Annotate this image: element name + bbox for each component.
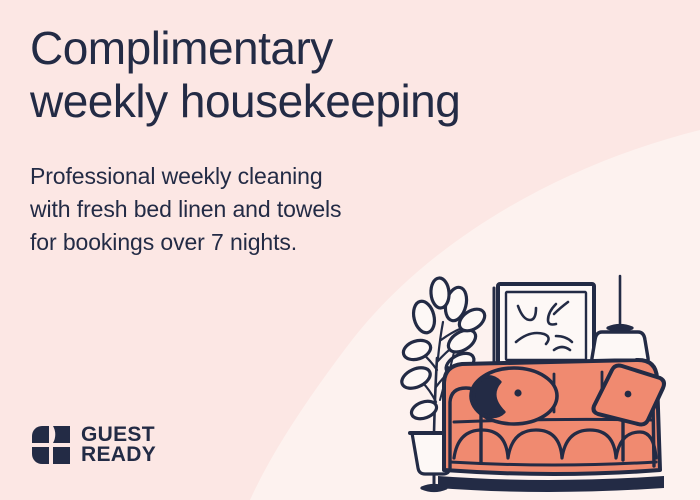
- round-cushion-icon: [471, 368, 557, 424]
- framed-artwork-icon: [494, 284, 594, 372]
- logo-word-line1: GUEST: [81, 425, 156, 445]
- living-room-illustration: [396, 262, 700, 500]
- page-title: Complimentary weekly housekeeping: [30, 22, 650, 129]
- promo-banner: Complimentary weekly housekeeping Profes…: [0, 0, 700, 500]
- logo-word-line2: READY: [81, 445, 156, 465]
- description-text: Professional weekly cleaning with fresh …: [30, 160, 450, 259]
- guestready-quadrant-mark-icon: [30, 424, 72, 466]
- guestready-wordmark: GUEST READY: [81, 425, 156, 466]
- guestready-logo: GUEST READY: [30, 424, 156, 466]
- sofa-icon: [438, 360, 664, 492]
